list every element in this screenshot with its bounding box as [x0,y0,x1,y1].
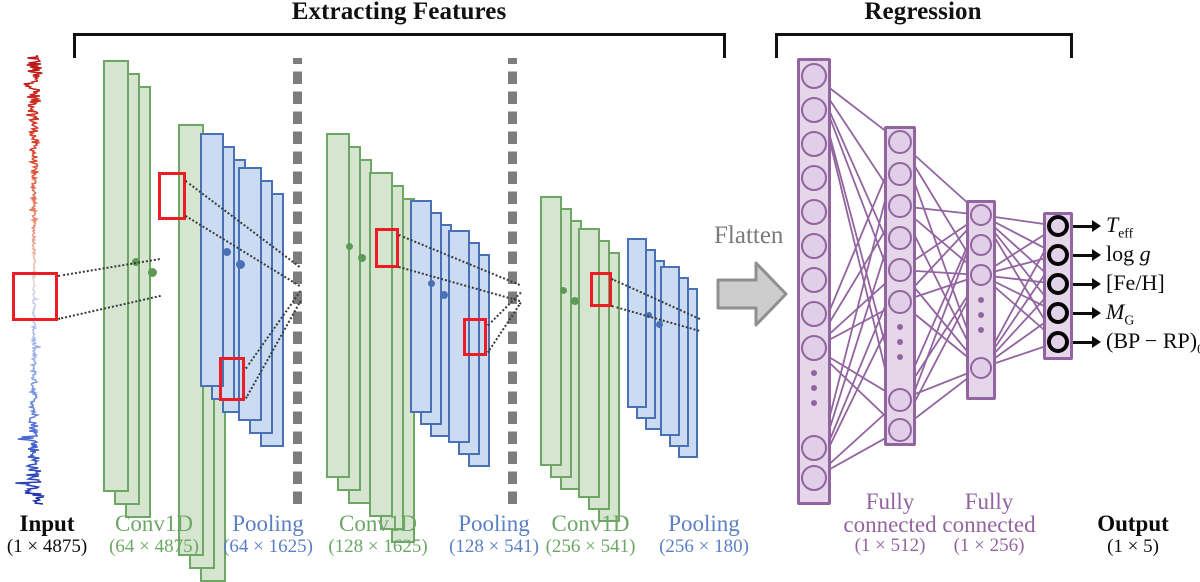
fully-connected-network: Tefflog g[Fe/H]MG(BP − RP)0 [0,0,1200,563]
neuron-node-0-8 [801,301,827,327]
caption-pooling-3-name: Pooling [643,512,765,537]
output-label-log-g: log g [1106,243,1151,265]
flatten-layer-column-ellipsis-dot-2 [811,385,817,391]
flatten-layer-column-ellipsis-dot-1 [811,370,817,376]
caption-conv1d-2: Conv1D (128 × 1625) [313,512,443,557]
caption-fc2-line2: connected [930,513,1048,536]
neuron-node-0-9 [801,335,827,361]
caption-input: Input (1 × 4875) [0,512,102,557]
output-node-3-1 [1047,215,1069,237]
neuron-node-0-1 [801,63,827,89]
output-arrowhead-4 [1092,307,1101,319]
output-arrow-3 [1073,283,1092,286]
dense-layer-1-column-ellipsis-dot-2 [897,339,903,345]
neuron-node-1-4 [888,226,912,250]
neuron-node-1-9 [888,418,912,442]
output-label-bp-rp-0: (BP − RP)0 [1106,330,1200,356]
neuron-node-2-2 [970,234,992,256]
neuron-node-0-12 [801,465,827,491]
caption-pooling-3-dim: (256 × 180) [643,537,765,558]
output-arrowhead-5 [1092,336,1101,348]
neuron-node-2-5 [970,357,992,379]
output-arrowhead-1 [1092,220,1101,232]
caption-conv1d-2-name: Conv1D [313,512,443,537]
dense-layer-1-column-ellipsis-dot-1 [897,324,903,330]
output-node-3-2 [1047,244,1069,266]
neuron-node-0-11 [801,435,827,461]
output-arrow-5 [1073,341,1092,344]
output-arrowhead-3 [1092,278,1101,290]
neuron-node-1-3 [888,194,912,218]
caption-pooling-1-dim: (64 × 1625) [208,537,328,558]
caption-conv1d-3-name: Conv1D [528,512,653,537]
output-label-m-g: MG [1106,301,1134,327]
neuron-node-2-1 [970,204,992,226]
output-node-3-3 [1047,273,1069,295]
output-node-3-5 [1047,331,1069,353]
neuron-node-1-2 [888,162,912,186]
caption-fully-connected-2: Fully connected (1 × 256) [930,490,1048,557]
caption-output-name: Output [1074,512,1192,537]
neuron-node-0-3 [801,131,827,157]
caption-conv1d-1-dim: (64 × 4875) [94,537,214,558]
figure-canvas: Extracting Features Regression [0,0,1200,563]
neuron-node-1-5 [888,258,912,282]
neuron-node-1-1 [888,130,912,154]
caption-pooling-3: Pooling (256 × 180) [643,512,765,557]
caption-conv1d-3: Conv1D (256 × 541) [528,512,653,557]
output-arrow-2 [1073,254,1092,257]
output-label-fe-h: [Fe/H] [1106,272,1165,294]
neuron-node-1-8 [888,388,912,412]
caption-input-dim: (1 × 4875) [0,537,102,558]
neuron-node-0-2 [801,97,827,123]
neuron-node-0-5 [801,199,827,225]
caption-pooling-1: Pooling (64 × 1625) [208,512,328,557]
dense-layer-1-column-ellipsis-dot-3 [897,354,903,360]
neuron-node-0-4 [801,165,827,191]
caption-fc2-line1: Fully [930,490,1048,513]
neuron-node-1-6 [888,290,912,314]
output-node-3-4 [1047,302,1069,324]
caption-pooling-1-name: Pooling [208,512,328,537]
caption-conv1d-2-dim: (128 × 1625) [313,537,443,558]
caption-input-name: Input [0,512,102,537]
dense-layer-2-column-ellipsis-dot-3 [978,327,984,333]
output-arrow-1 [1073,225,1092,228]
caption-conv1d-1: Conv1D (64 × 4875) [94,512,214,557]
caption-conv1d-1-name: Conv1D [94,512,214,537]
neuron-node-0-6 [801,233,827,259]
dense-layer-2-column-ellipsis-dot-2 [978,312,984,318]
caption-output: Output (1 × 5) [1074,512,1192,557]
caption-fc2-dim: (1 × 256) [930,536,1048,557]
neuron-node-0-7 [801,267,827,293]
caption-conv1d-3-dim: (256 × 541) [528,537,653,558]
output-arrow-4 [1073,312,1092,315]
flatten-layer-column-ellipsis-dot-3 [811,400,817,406]
caption-output-dim: (1 × 5) [1074,537,1192,558]
neuron-node-2-3 [970,264,992,286]
output-arrowhead-2 [1092,249,1101,261]
dense-layer-2-column-ellipsis-dot-1 [978,297,984,303]
output-label-t-eff: Teff [1106,214,1133,240]
